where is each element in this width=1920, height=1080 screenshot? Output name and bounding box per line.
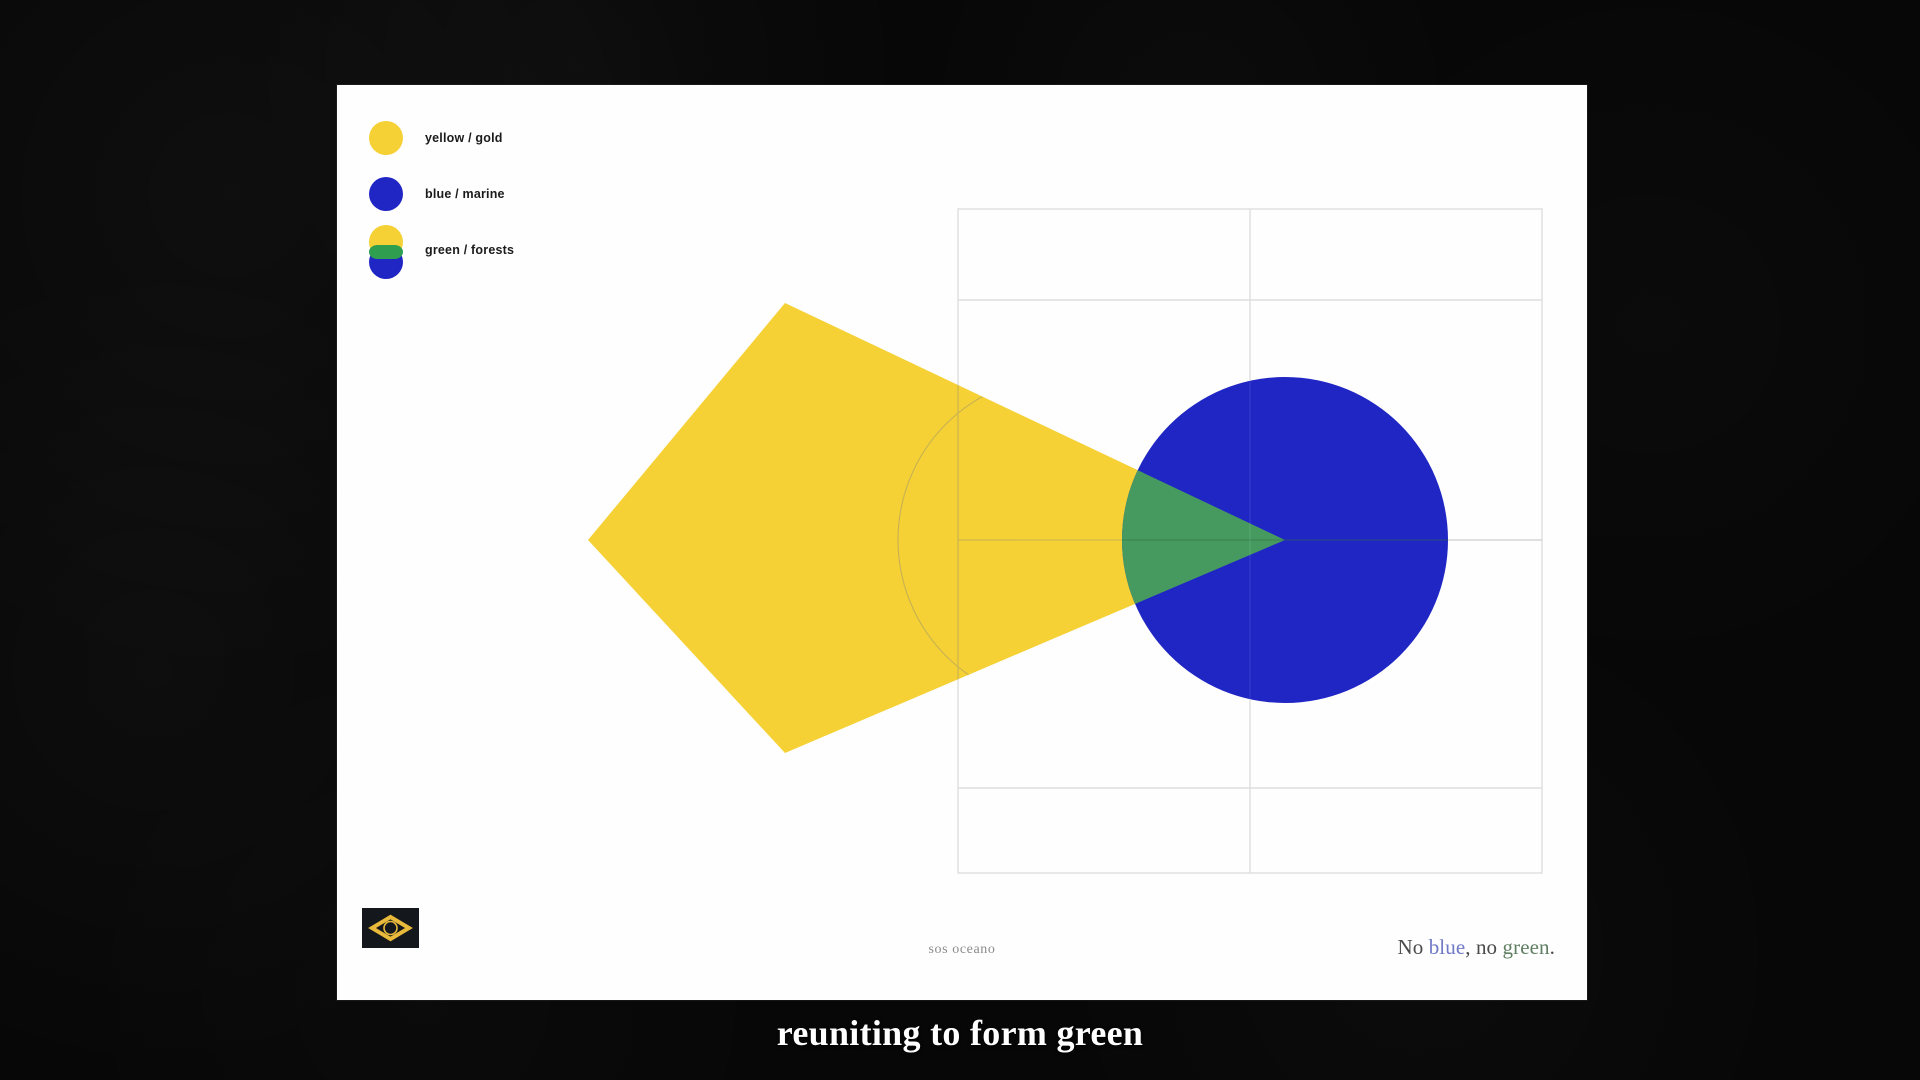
slide-stage: yellow / gold blue / marine green / fore…: [0, 0, 1920, 1080]
slide-caption: reuniting to form green: [0, 1012, 1920, 1054]
legend-item-yellow[interactable]: yellow / gold: [367, 110, 667, 166]
circle-swatch-blue-icon: [367, 169, 405, 219]
legend-item-blue[interactable]: blue / marine: [367, 166, 667, 222]
circle-swatch-yellow-icon: [367, 113, 405, 163]
tagline-blue-word: blue: [1429, 935, 1466, 959]
brazil-flag-icon: [368, 913, 413, 943]
legend-item-green[interactable]: green / forests: [367, 222, 667, 278]
legend-item-label: green / forests: [425, 243, 514, 257]
venn-swatch-green-icon: [367, 225, 405, 275]
tagline-tail: .: [1550, 935, 1555, 959]
color-legend: yellow / gold blue / marine green / fore…: [367, 110, 667, 278]
tagline-middle: , no: [1465, 935, 1502, 959]
legend-item-label: yellow / gold: [425, 131, 503, 145]
legend-item-label: blue / marine: [425, 187, 505, 201]
footer-tagline: No blue, no green.: [1397, 935, 1555, 960]
poster-slide: yellow / gold blue / marine green / fore…: [337, 85, 1587, 1000]
tagline-green-word: green: [1503, 935, 1550, 959]
tagline-lead: No: [1397, 935, 1428, 959]
